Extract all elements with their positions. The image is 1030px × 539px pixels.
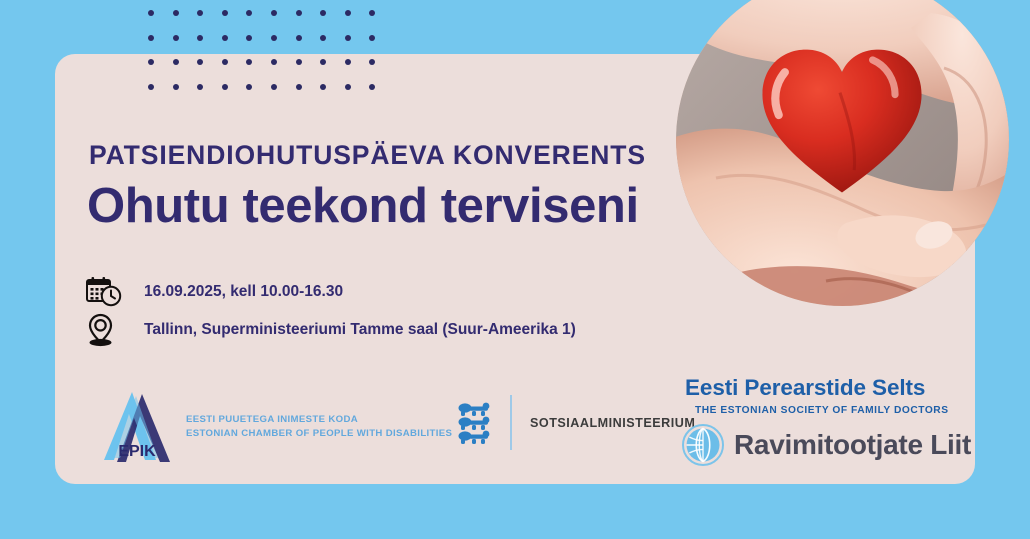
dot [148, 84, 154, 90]
dot [246, 84, 252, 90]
dot [246, 10, 252, 16]
dot [173, 84, 179, 90]
dot [197, 35, 203, 41]
dot [320, 84, 326, 90]
dot [271, 84, 277, 90]
dot [320, 59, 326, 65]
dot [222, 35, 228, 41]
epik-wordmark: EPIK [118, 443, 156, 460]
dot [345, 84, 351, 90]
dot [222, 10, 228, 16]
partner-logos: EPIK EESTI PUUETEGA INIMESTE KODA ESTONI… [0, 370, 1030, 480]
dot [173, 10, 179, 16]
dot [197, 10, 203, 16]
logo-divider [510, 395, 512, 450]
event-location-row: Tallinn, Superministeeriumi Tamme saal (… [86, 312, 576, 348]
epik-triangle-mark: EPIK [98, 388, 176, 466]
event-location-text: Tallinn, Superministeeriumi Tamme saal (… [144, 321, 576, 339]
dot [369, 84, 375, 90]
dot [369, 35, 375, 41]
ministry-name: SOTSIAALMINISTEERIUM [530, 416, 695, 430]
dot [197, 84, 203, 90]
logo-epik: EPIK EESTI PUUETEGA INIMESTE KODA ESTONI… [98, 388, 452, 466]
dot [222, 84, 228, 90]
logo-eesti-perearstide-selts: Eesti Perearstide Selts THE ESTONIAN SOC… [685, 375, 949, 416]
dot [296, 84, 302, 90]
dot [320, 10, 326, 16]
dot [369, 10, 375, 16]
dot [296, 59, 302, 65]
event-date-row: 16.09.2025, kell 10.00-16.30 [86, 274, 343, 310]
dot [320, 35, 326, 41]
map-pin-icon [86, 312, 126, 348]
logo-sotsiaalministeerium: SOTSIAALMINISTEERIUM [452, 395, 695, 450]
epik-wordmark-text: EESTI PUUETEGA INIMESTE KODA ESTONIAN CH… [186, 413, 452, 441]
dot [345, 35, 351, 41]
dot [173, 59, 179, 65]
dot [296, 35, 302, 41]
eps-title: Eesti Perearstide Selts [685, 375, 949, 401]
dot [148, 10, 154, 16]
dot [222, 59, 228, 65]
estonian-coat-of-arms-icon [452, 399, 496, 447]
rtl-name: Ravimitootjate Liit [734, 429, 971, 461]
dot [296, 10, 302, 16]
dot [345, 10, 351, 16]
dot [369, 59, 375, 65]
dot-grid [148, 10, 394, 108]
epik-line-2: ESTONIAN CHAMBER OF PEOPLE WITH DISABILI… [186, 427, 452, 441]
dot [246, 35, 252, 41]
poster-canvas: PATSIENDIOHUTUSPÄEVA KONVERENTS Ohutu te… [0, 0, 1030, 539]
dot [173, 35, 179, 41]
dot [246, 59, 252, 65]
page-title: Ohutu teekond terviseni [87, 178, 639, 234]
globe-icon [681, 423, 725, 467]
dot [271, 10, 277, 16]
dot [271, 59, 277, 65]
dot [197, 59, 203, 65]
calendar-clock-icon [86, 274, 126, 310]
dot [345, 59, 351, 65]
epik-line-1: EESTI PUUETEGA INIMESTE KODA [186, 413, 452, 427]
dot [148, 59, 154, 65]
page-kicker: PATSIENDIOHUTUSPÄEVA KONVERENTS [89, 140, 646, 171]
logo-ravimitootjate-liit: Ravimitootjate Liit [681, 423, 971, 467]
dot [148, 35, 154, 41]
dot [271, 35, 277, 41]
eps-subtitle: THE ESTONIAN SOCIETY OF FAMILY DOCTORS [695, 405, 949, 416]
event-date-text: 16.09.2025, kell 10.00-16.30 [144, 283, 343, 301]
